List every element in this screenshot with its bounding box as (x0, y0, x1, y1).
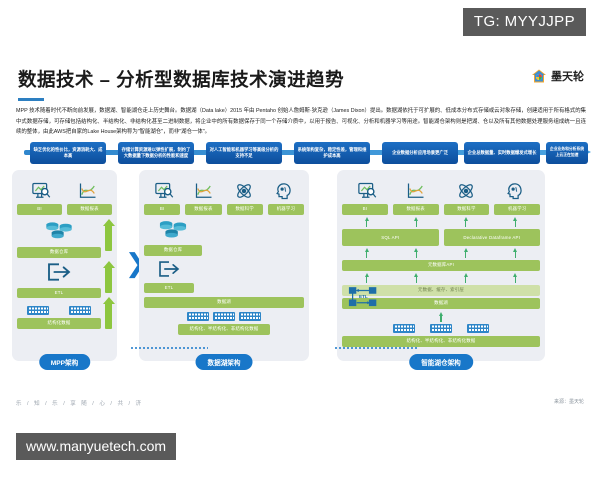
panel-datalake-top-boxes: BI 数据报表 数据科学 机器学习 (144, 204, 304, 215)
callout-box-3: 对人工智能和机器学习等高级分析的支持不足 (206, 142, 282, 164)
box-source-layer: 结构化、半结构化、非结构化数据 (178, 324, 270, 335)
title-underline-rule (18, 98, 44, 101)
box-machine-learning: 机器学习 (494, 204, 540, 215)
server-rack-icon (467, 324, 489, 333)
panel-datalake-server-row (185, 312, 263, 321)
footer-slogan: 乐 / 知 / 乐 / 享 随 / 心 / 共 / 济 (16, 399, 143, 407)
panel-datalake-pill-label: 数据湖架构 (196, 354, 253, 370)
panel-lakehouse: BI 数据报表 数据科学 机器学习 SQL API Declarative Da… (337, 170, 545, 361)
server-rack-icon (27, 306, 49, 315)
lakehouse-api-row: SQL API Declarative Dataframe API (342, 229, 540, 246)
box-sql-api: SQL API (342, 229, 439, 246)
box-data-warehouse: 数据仓库 (144, 245, 202, 256)
up-arrow-icon (414, 217, 418, 227)
brand-logo: 墨天轮 (531, 68, 584, 84)
dotted-connector-1 (130, 347, 208, 349)
server-rack-icon (69, 306, 91, 315)
slide-paragraph: MPP 技术随着时代不断向前发展，数据湖、智能湖仓走上历史舞台。数据湖（Data… (0, 101, 600, 138)
panel-datalake: BI 数据报表 数据科学 机器学习 (139, 170, 309, 361)
box-etl: ETL (144, 283, 194, 293)
callout-box-5: 企业数据分析应用场景更广泛 (382, 142, 458, 164)
box-data-lake: 数据湖 (144, 297, 304, 308)
lakehouse-arrow-row-3 (342, 273, 540, 283)
page-title: 数据技术 – 分析型数据库技术演进趋势 (18, 66, 582, 92)
up-arrow-icon (513, 217, 517, 227)
bi-monitor-icon (154, 181, 174, 201)
atom-icon (234, 181, 254, 201)
panel-mpp-server-row (17, 306, 101, 315)
up-arrow-icon (365, 248, 369, 258)
up-arrow-icon (439, 312, 443, 322)
up-arrow-icon (365, 273, 369, 283)
panel-lakehouse-icon-row (342, 175, 540, 201)
server-rack-icon (239, 312, 261, 321)
up-arrow-icon (464, 217, 468, 227)
etl-export-icon (17, 262, 101, 287)
panel-datalake-icon-row (144, 175, 304, 201)
panel-lakehouse-server-row (386, 324, 496, 333)
panel-mpp: BI 数据报表 (12, 170, 117, 361)
server-rack-icon (430, 324, 452, 333)
box-source-layer: 结构化、半结构化、非结构化数据 (342, 336, 540, 347)
box-bi: BI (342, 204, 388, 215)
callout-box-2: 存储计算资源难以弹性扩展，制约了大数据量下数据分析的性能和速度 (118, 142, 194, 164)
chart-curve-icon (78, 181, 98, 201)
slide-header: 数据技术 – 分析型数据库技术演进趋势 墨天轮 (0, 56, 600, 101)
box-machine-learning: 机器学习 (268, 204, 304, 215)
etl-node-graph-icon: ETL (348, 286, 388, 313)
growth-arrow-1-icon (105, 225, 112, 251)
database-cylinder-icon (17, 219, 101, 246)
callout-ribbon-row: 缺乏优化的性价比，资源消耗大、成本高 存储计算资源难以弹性扩展，制约了大数据量下… (12, 142, 590, 168)
callout-box-7: 企业业务和分析系统上云正在加速 (546, 142, 588, 164)
brand-name-label: 墨天轮 (551, 68, 584, 84)
brain-head-icon (505, 181, 525, 201)
etl-label: ETL (359, 294, 368, 299)
bi-monitor-icon (31, 181, 51, 201)
chart-curve-icon (194, 181, 214, 201)
growth-arrow-3-icon (105, 303, 112, 329)
box-structured-data: 结构化数据 (17, 318, 101, 329)
box-data-report: 数据报表 (185, 204, 221, 215)
box-bi: BI (17, 204, 62, 215)
server-rack-icon (187, 312, 209, 321)
site-url-badge: www.manyuetech.com (16, 433, 176, 460)
source-credit: 来源：墨天轮 (554, 398, 584, 405)
up-arrow-icon (414, 248, 418, 258)
atom-icon (456, 181, 476, 201)
brain-head-icon (274, 181, 294, 201)
up-arrow-icon (513, 248, 517, 258)
lakehouse-arrow-row-4 (342, 312, 540, 322)
box-metadata-api: 元数据库API (342, 260, 540, 271)
bi-monitor-icon (357, 181, 377, 201)
panel-mpp-top-boxes: BI 数据报表 (17, 204, 112, 215)
up-arrow-icon (513, 273, 517, 283)
up-arrow-icon (464, 273, 468, 283)
box-data-science: 数据科学 (227, 204, 263, 215)
box-bi: BI (144, 204, 180, 215)
growth-arrow-2-icon (105, 267, 112, 293)
panel-mpp-icon-row (17, 175, 112, 201)
up-arrow-icon (365, 217, 369, 227)
motianlun-house-icon (531, 68, 547, 84)
chart-curve-icon (406, 181, 426, 201)
dotted-connector-2 (334, 347, 418, 349)
lakehouse-arrow-row-2 (342, 248, 540, 258)
server-rack-icon (393, 324, 415, 333)
slide-container: 数据技术 – 分析型数据库技术演进趋势 墨天轮 MPP 技术随着时代不断向前发展… (0, 56, 600, 411)
box-data-warehouse: 数据仓库 (17, 247, 101, 258)
callout-box-6: 企业总数据量、实时数据爆发式增长 (464, 142, 540, 164)
box-data-report: 数据报表 (67, 204, 112, 215)
database-cylinder-icon (144, 218, 202, 245)
box-declarative-dataframe-api: Declarative Dataframe API (444, 229, 541, 246)
up-arrow-icon (414, 273, 418, 283)
panel-lakehouse-top-boxes: BI 数据报表 数据科学 机器学习 (342, 204, 540, 215)
callout-box-4: 系统架构复杂，稳定性差，管理和维护成本高 (294, 142, 370, 164)
server-rack-icon (213, 312, 235, 321)
tg-watermark-badge: TG: MYYJJPP (463, 8, 586, 36)
up-arrow-icon (464, 248, 468, 258)
lakehouse-arrow-row-1 (342, 217, 540, 227)
lakehouse-lake-block: 元数据、缓存、索引层 数据湖 ETL (342, 285, 540, 309)
etl-export-icon (144, 260, 194, 283)
box-etl: ETL (17, 288, 101, 298)
architecture-diagram: 缺乏优化的性价比，资源消耗大、成本高 存储计算资源难以弹性扩展，制约了大数据量下… (12, 142, 590, 357)
box-data-report: 数据报表 (393, 204, 439, 215)
callout-box-1: 缺乏优化的性价比，资源消耗大、成本高 (30, 142, 106, 164)
panel-mpp-pill-label: MPP架构 (39, 354, 90, 370)
panels-row: BI 数据报表 (12, 170, 590, 361)
box-data-science: 数据科学 (444, 204, 490, 215)
panel-lakehouse-pill-label: 智能湖仓架构 (409, 354, 473, 370)
